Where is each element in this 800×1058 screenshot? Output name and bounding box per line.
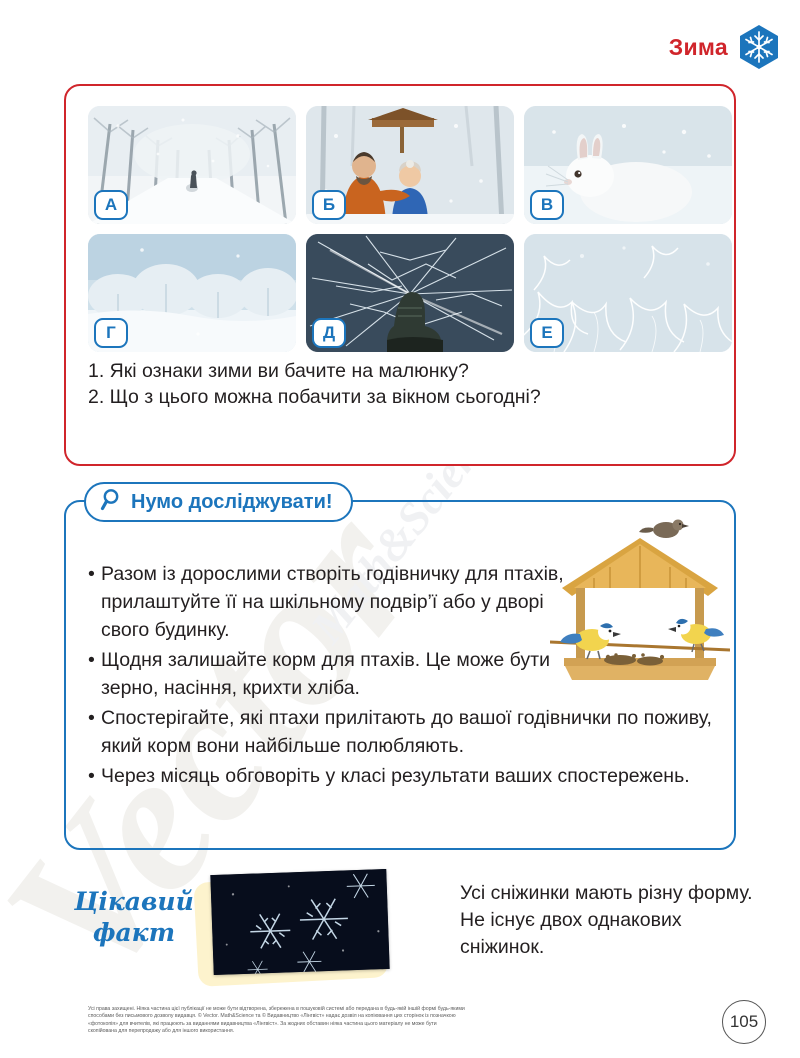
fun-fact-text: Усі сніжинки мають різну форму. Не існує… <box>460 880 760 961</box>
photo-badge-b: Б <box>312 190 346 220</box>
fun-fact-label-line2: факт <box>64 917 204 948</box>
magnifier-icon <box>100 488 122 517</box>
research-title-pill: Нумо досліджувати! <box>84 482 353 522</box>
snowflakes-photo <box>210 869 389 975</box>
copyright-footer: Усі права захищені. Ніяка частина цієї п… <box>88 1006 688 1036</box>
photo-g[interactable]: Г <box>88 234 296 352</box>
research-bullets: Разом із дорослими створіть годівничку д… <box>88 560 728 792</box>
photo-e[interactable]: Е <box>524 234 732 352</box>
photo-a[interactable]: А <box>88 106 296 224</box>
photo-badge-c: В <box>530 190 564 220</box>
photo-badge-e: Е <box>530 318 564 348</box>
research-panel: Нумо досліджувати! <box>64 500 736 850</box>
photo-badge-g: Г <box>94 318 128 348</box>
footer-line-2: способами без письмового дозволу видавця… <box>88 1013 688 1020</box>
page-number: 105 <box>722 1000 766 1044</box>
fun-fact-section: Цікавий факт <box>64 872 754 982</box>
question-1: 1. Які ознаки зими ви бачите на малюнку? <box>88 358 718 384</box>
fun-fact-label-line1: Цікавий <box>64 886 204 917</box>
research-bullet-2: Щодня залишайте корм для птахів. Це може… <box>88 646 588 702</box>
questions-list: 1. Які ознаки зими ви бачите на малюнку?… <box>88 358 718 410</box>
fun-fact-label: Цікавий факт <box>64 886 204 948</box>
question-2: 2. Що з цього можна побачити за вікном с… <box>88 384 718 410</box>
roof-bird <box>639 520 689 539</box>
photo-badge-d: Д <box>312 318 346 348</box>
photo-activity-panel: А <box>64 84 736 466</box>
photo-badge-a: А <box>94 190 128 220</box>
research-title: Нумо досліджувати! <box>131 491 333 514</box>
photo-d[interactable]: Д <box>306 234 514 352</box>
footer-line-4: скопійована для перепродажу або для іншо… <box>88 1028 688 1035</box>
research-bullet-4: Через місяць обговоріть у класі результа… <box>88 762 724 790</box>
photo-b[interactable]: Б <box>306 106 514 224</box>
photo-c[interactable]: В <box>524 106 732 224</box>
snowflake-hexagon-icon <box>738 24 780 70</box>
page-header: Зима <box>669 24 780 70</box>
page-title: Зима <box>669 34 728 61</box>
research-bullet-3: Спостерігайте, які птахи прилітають до в… <box>88 704 724 760</box>
photo-grid: А <box>88 106 732 352</box>
textbook-page: Зима <box>0 0 800 1058</box>
research-bullet-1: Разом із дорослими створіть годівничку д… <box>88 560 588 644</box>
